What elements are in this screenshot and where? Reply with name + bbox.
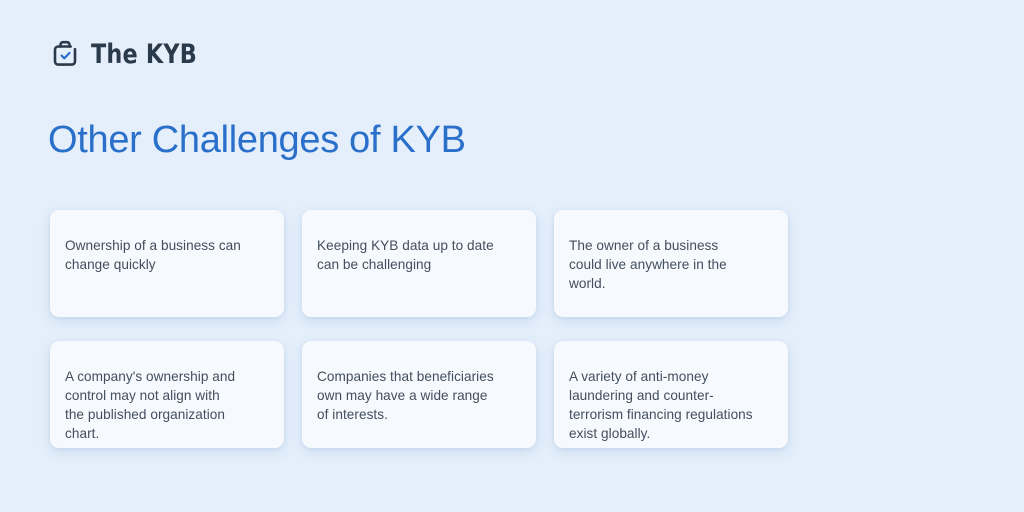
challenge-card: Keeping KYB data up to date can be chall… bbox=[302, 210, 536, 317]
challenge-card-grid: Ownership of a business can change quick… bbox=[50, 210, 790, 448]
challenge-card: A company's ownership and control may no… bbox=[50, 341, 284, 448]
challenge-card-text: A company's ownership and control may no… bbox=[65, 367, 267, 443]
briefcase-check-icon bbox=[48, 37, 82, 71]
brand-name: The KYB bbox=[91, 41, 197, 68]
challenge-card: Companies that beneficiaries own may hav… bbox=[302, 341, 536, 448]
challenge-card-text: Ownership of a business can change quick… bbox=[65, 236, 267, 274]
challenge-card-text: A variety of anti-money laundering and c… bbox=[569, 367, 771, 443]
slide-root: The KYB Other Challenges of KYB Ownershi… bbox=[0, 0, 1024, 512]
challenge-card: Ownership of a business can change quick… bbox=[50, 210, 284, 317]
challenge-card-text: The owner of a business could live anywh… bbox=[569, 236, 771, 293]
page-title: Other Challenges of KYB bbox=[48, 117, 466, 163]
challenge-card: A variety of anti-money laundering and c… bbox=[554, 341, 788, 448]
challenge-card-text: Companies that beneficiaries own may hav… bbox=[317, 367, 519, 424]
challenge-card: The owner of a business could live anywh… bbox=[554, 210, 788, 317]
brand-logo: The KYB bbox=[48, 33, 206, 75]
challenge-card-text: Keeping KYB data up to date can be chall… bbox=[317, 236, 519, 274]
